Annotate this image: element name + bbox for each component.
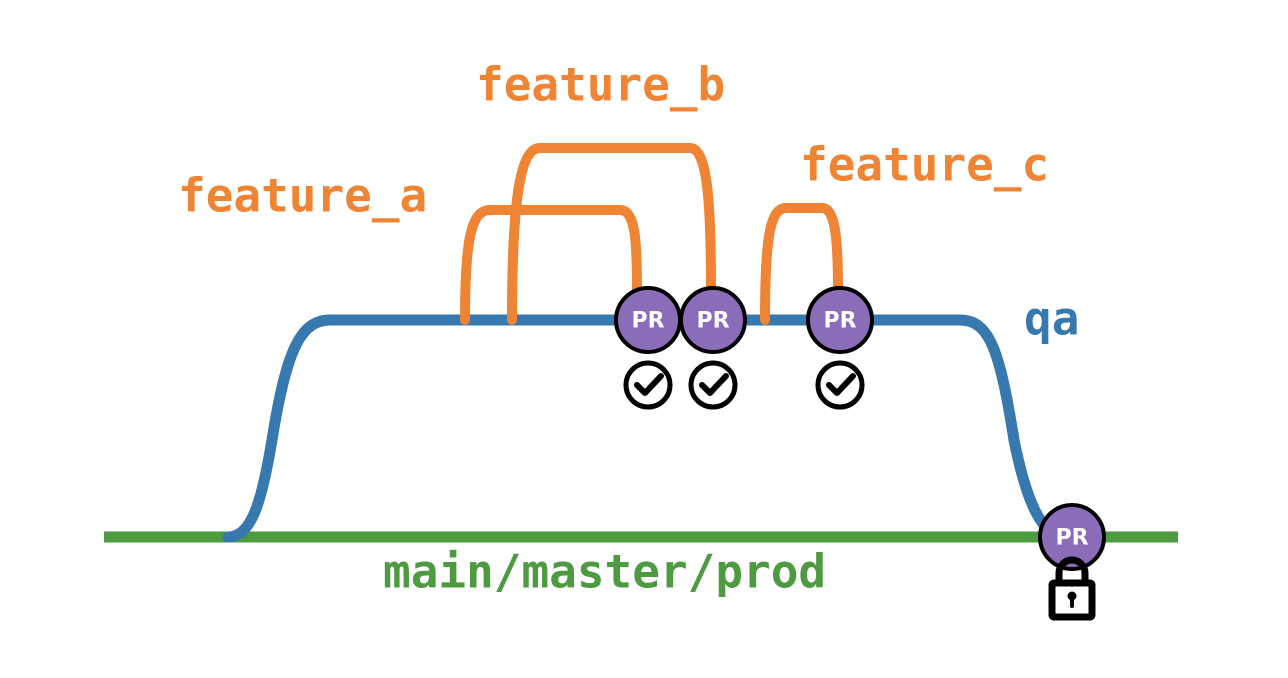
- feature-b-branch-group: [512, 148, 711, 320]
- branch-label-feature-b: feature_b: [476, 58, 725, 112]
- branch-label-feature-c: feature_c: [800, 138, 1049, 192]
- git-flow-canvas: PR PR PR PR: [0, 0, 1288, 678]
- pr-node-feature-b[interactable]: PR: [681, 288, 745, 352]
- check-circle-icon: [818, 363, 862, 407]
- check-circle-ring: [626, 363, 670, 407]
- git-branching-diagram: PR PR PR PR: [0, 0, 1288, 678]
- check-circle-icon: [626, 363, 670, 407]
- feature-b-branch-line: [512, 148, 711, 320]
- pr-node-feature-a[interactable]: PR: [616, 288, 680, 352]
- check-circle-icon: [691, 363, 735, 407]
- check-circle-ring: [691, 363, 735, 407]
- feature-a-branch-line: [465, 210, 637, 320]
- pr-node-label: PR: [696, 309, 729, 334]
- branch-label-main: main/master/prod: [383, 545, 826, 599]
- pr-node-label: PR: [823, 309, 856, 334]
- feature-a-branch-group: [465, 210, 637, 320]
- pr-node-label: PR: [631, 309, 664, 334]
- pr-node-feature-c[interactable]: PR: [808, 288, 872, 352]
- check-circle-ring: [818, 363, 862, 407]
- branch-label-feature-a: feature_a: [178, 169, 427, 223]
- branch-label-qa: qa: [1024, 292, 1079, 346]
- pr-node-label: PR: [1055, 526, 1088, 551]
